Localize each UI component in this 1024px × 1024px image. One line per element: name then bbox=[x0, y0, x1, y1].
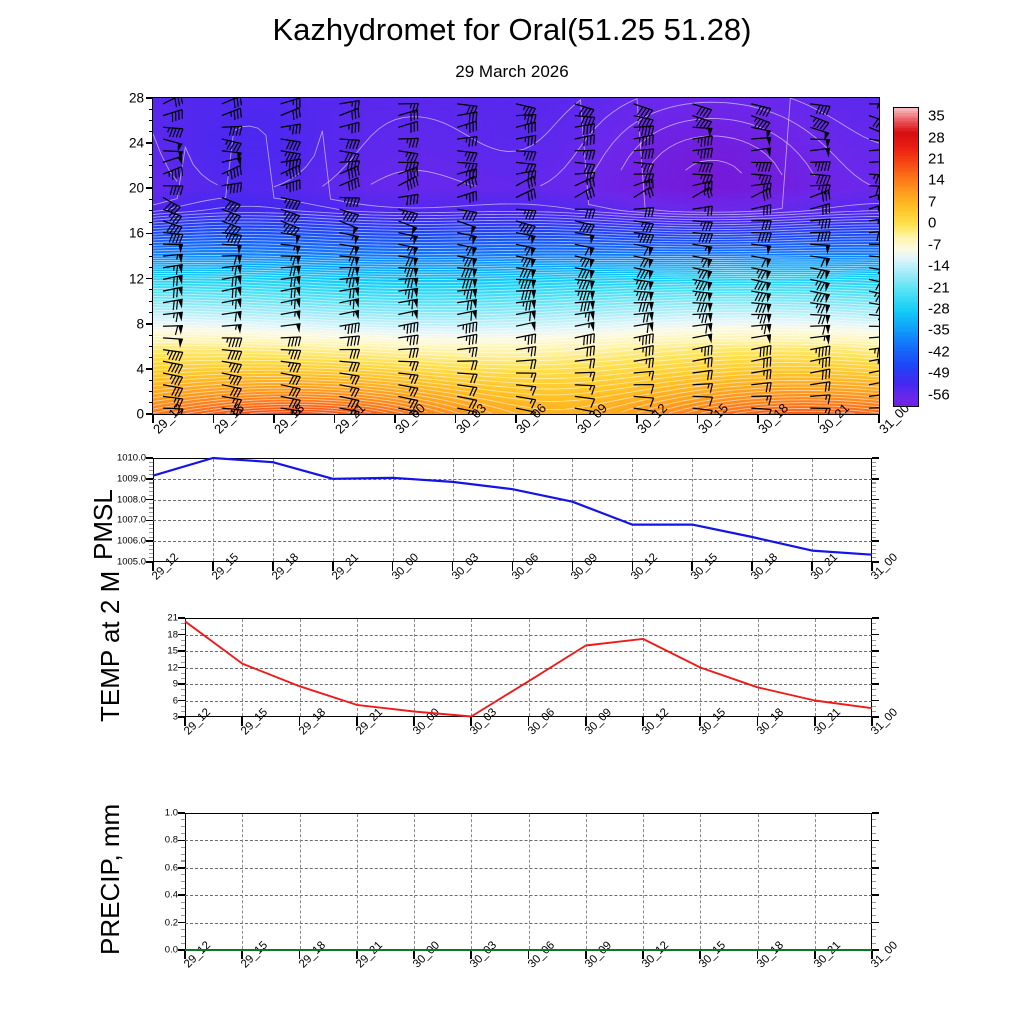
pmsl-ytick-minor bbox=[149, 549, 153, 550]
temp2m-ytick-minor bbox=[181, 629, 185, 630]
pmsl-gridline-v bbox=[752, 459, 753, 561]
pmsl-ytick-minor-right bbox=[872, 487, 876, 488]
pmsl-ytick-mark bbox=[146, 499, 153, 501]
cross-section-ytick-minor bbox=[149, 199, 153, 200]
pmsl-ytick-minor-right bbox=[872, 470, 876, 471]
precip-ytick-minor bbox=[181, 902, 185, 903]
forecast-meteogram-page: Kazhydromet for Oral(51.25 51.28) 29 Mar… bbox=[0, 0, 1024, 1024]
temp2m-ytick-minor-right bbox=[872, 673, 876, 674]
precip-ytick-label: 0.2 bbox=[156, 917, 178, 928]
cross-section-ytick-label: 28 bbox=[110, 91, 144, 106]
precip-ytick-mark bbox=[178, 894, 185, 896]
pmsl-ytick-minor-right bbox=[872, 532, 876, 533]
precip-ytick-mark bbox=[178, 840, 185, 842]
cross-section-frame bbox=[152, 97, 880, 415]
temp2m-gridline-v bbox=[529, 619, 530, 716]
pmsl-ytick-minor-right bbox=[872, 545, 876, 546]
temp2m-ytick-mark-right bbox=[872, 700, 879, 702]
pmsl-ytick-label: 1009.0 bbox=[106, 473, 146, 484]
cross-section-ytick-minor bbox=[149, 402, 153, 403]
precip-ytick-minor bbox=[181, 854, 185, 855]
pmsl-ytick-minor-right bbox=[872, 516, 876, 517]
precip-ytick-minor-right bbox=[872, 854, 876, 855]
precip-ytick-minor-right bbox=[872, 888, 876, 889]
pmsl-gridline-v bbox=[453, 459, 454, 561]
precip-ytick-label: 0.4 bbox=[156, 890, 178, 901]
pmsl-ytick-mark-right bbox=[872, 561, 879, 563]
precip-gridline-v bbox=[758, 814, 759, 949]
colorbar-tick-label: -42 bbox=[928, 343, 950, 360]
temp2m-gridline-v bbox=[586, 619, 587, 716]
precip-gridline-v bbox=[700, 814, 701, 949]
temp2m-gridline-v bbox=[815, 619, 816, 716]
pmsl-ytick-label: 1005.0 bbox=[106, 557, 146, 568]
precip-axis-label: PRECIP, mm bbox=[95, 804, 126, 955]
precip-ytick-minor-right bbox=[872, 908, 876, 909]
precip-ytick-minor-right bbox=[872, 929, 876, 930]
pmsl-ytick-minor-right bbox=[872, 495, 876, 496]
cross-section-ytick-mark bbox=[146, 368, 153, 370]
pmsl-ytick-minor bbox=[149, 512, 153, 513]
temp2m-gridline-v bbox=[300, 619, 301, 716]
temp2m-ytick-mark-right bbox=[872, 617, 879, 619]
temp2m-gridline-v bbox=[242, 619, 243, 716]
pmsl-ytick-minor-right bbox=[872, 462, 876, 463]
colorbar-tick-label: -56 bbox=[928, 386, 950, 403]
temp2m-ytick-mark bbox=[178, 683, 185, 685]
precip-ytick-minor bbox=[181, 936, 185, 937]
pmsl-ytick-minor bbox=[149, 466, 153, 467]
pmsl-ytick-label: 1007.0 bbox=[106, 515, 146, 526]
pmsl-ytick-minor bbox=[149, 487, 153, 488]
temp2m-ytick-label: 18 bbox=[160, 629, 178, 640]
temp2m-ytick-label: 9 bbox=[160, 679, 178, 690]
temp2m-ytick-minor bbox=[181, 678, 185, 679]
precip-ytick-minor-right bbox=[872, 902, 876, 903]
temp2m-ytick-minor bbox=[181, 656, 185, 657]
precip-gridline-v bbox=[471, 814, 472, 949]
pmsl-ytick-minor bbox=[149, 528, 153, 529]
colorbar-tick-label: -21 bbox=[928, 279, 950, 296]
precip-gridline-v bbox=[529, 814, 530, 949]
temp2m-ytick-minor-right bbox=[872, 711, 876, 712]
cross-section-ytick-minor bbox=[149, 391, 153, 392]
pmsl-ytick-minor bbox=[149, 553, 153, 554]
temp2m-ytick-mark-right bbox=[872, 650, 879, 652]
precip-ytick-minor bbox=[181, 929, 185, 930]
pmsl-ytick-mark-right bbox=[872, 540, 879, 542]
cross-section-ytick-label: 12 bbox=[110, 271, 144, 286]
pmsl-ytick-minor bbox=[149, 516, 153, 517]
precip-ytick-label: 1.0 bbox=[156, 808, 178, 819]
precip-gridline-v bbox=[815, 814, 816, 949]
page-subtitle: 29 March 2026 bbox=[0, 62, 1024, 82]
temp2m-ytick-mark bbox=[178, 667, 185, 669]
precip-ytick-minor bbox=[181, 881, 185, 882]
temp2m-ytick-minor-right bbox=[872, 640, 876, 641]
temp2m-ytick-minor bbox=[181, 706, 185, 707]
cross-section-ytick-mark bbox=[146, 187, 153, 189]
temp2m-ytick-label: 12 bbox=[160, 662, 178, 673]
pmsl-ytick-minor bbox=[149, 545, 153, 546]
precip-ytick-minor bbox=[181, 888, 185, 889]
precip-ytick-mark-right bbox=[872, 922, 879, 924]
pmsl-ytick-minor bbox=[149, 524, 153, 525]
cross-section-ytick-minor bbox=[149, 222, 153, 223]
colorbar-tick-label: -7 bbox=[928, 236, 941, 253]
pmsl-ytick-minor-right bbox=[872, 512, 876, 513]
temp2m-ytick-label: 3 bbox=[160, 712, 178, 723]
temp2m-ytick-label: 15 bbox=[160, 646, 178, 657]
pmsl-ytick-minor bbox=[149, 532, 153, 533]
cross-section-ytick-minor bbox=[149, 335, 153, 336]
pmsl-ytick-minor bbox=[149, 503, 153, 504]
precip-ytick-minor bbox=[181, 943, 185, 944]
colorbar-tick-label: -14 bbox=[928, 258, 950, 275]
precip-ytick-minor bbox=[181, 826, 185, 827]
precip-ytick-mark bbox=[178, 922, 185, 924]
colorbar-tick-label: 28 bbox=[928, 129, 945, 146]
cross-section-ytick-label: 16 bbox=[110, 226, 144, 241]
temp2m-ytick-minor bbox=[181, 645, 185, 646]
temp2m-ytick-mark bbox=[178, 650, 185, 652]
temp2m-ytick-mark-right bbox=[872, 716, 879, 718]
temp2m-gridline-v bbox=[414, 619, 415, 716]
colorbar-tick-label: 14 bbox=[928, 172, 945, 189]
temp2m-ytick-minor bbox=[181, 623, 185, 624]
cross-section-ytick-minor bbox=[149, 210, 153, 211]
precip-gridline-v bbox=[643, 814, 644, 949]
pmsl-gridline-v bbox=[513, 459, 514, 561]
pmsl-ytick-mark bbox=[146, 520, 153, 522]
pmsl-gridline-v bbox=[692, 459, 693, 561]
temp2m-ytick-mark bbox=[178, 700, 185, 702]
temp2m-ytick-minor-right bbox=[872, 706, 876, 707]
pmsl-gridline-v bbox=[273, 459, 274, 561]
pmsl-gridline-v bbox=[213, 459, 214, 561]
temp2m-ytick-minor-right bbox=[872, 662, 876, 663]
cross-section-ytick-minor bbox=[149, 301, 153, 302]
temp2m-ytick-minor bbox=[181, 689, 185, 690]
precip-ytick-minor-right bbox=[872, 833, 876, 834]
cross-section-ytick-mark bbox=[146, 278, 153, 280]
pmsl-ytick-minor bbox=[149, 482, 153, 483]
pmsl-ytick-mark bbox=[146, 478, 153, 480]
precip-ytick-minor bbox=[181, 860, 185, 861]
precip-ytick-mark bbox=[178, 812, 185, 814]
temp2m-ytick-minor-right bbox=[872, 623, 876, 624]
temp2m-ytick-minor bbox=[181, 640, 185, 641]
temp2m-ytick-mark bbox=[178, 617, 185, 619]
cross-section-ytick-minor bbox=[149, 165, 153, 166]
pmsl-ytick-mark bbox=[146, 457, 153, 459]
temp2m-ytick-mark-right bbox=[872, 634, 879, 636]
cross-section-ytick-label: 8 bbox=[110, 316, 144, 331]
temp2m-ytick-minor bbox=[181, 695, 185, 696]
temp2m-gridline-v bbox=[700, 619, 701, 716]
pmsl-ytick-minor bbox=[149, 462, 153, 463]
colorbar-tick-label: 21 bbox=[928, 151, 945, 168]
cross-section-ytick-minor bbox=[149, 109, 153, 110]
pmsl-gridline-v bbox=[393, 459, 394, 561]
pmsl-ytick-minor-right bbox=[872, 524, 876, 525]
temp2m-ytick-mark-right bbox=[872, 667, 879, 669]
precip-ytick-minor bbox=[181, 819, 185, 820]
precip-ytick-minor bbox=[181, 874, 185, 875]
cross-section-ytick-minor bbox=[149, 357, 153, 358]
pmsl-ytick-minor bbox=[149, 537, 153, 538]
colorbar-tick-label: 35 bbox=[928, 108, 945, 125]
precip-ytick-minor-right bbox=[872, 881, 876, 882]
pmsl-xtick-label: 31_00 bbox=[869, 551, 900, 582]
cross-section-ytick-minor bbox=[149, 380, 153, 381]
temp2m-ytick-minor-right bbox=[872, 689, 876, 690]
cross-section-ytick-mark bbox=[146, 323, 153, 325]
precip-gridline-v bbox=[586, 814, 587, 949]
cross-section-ytick-label: 0 bbox=[110, 407, 144, 422]
cross-section-ytick-mark bbox=[146, 97, 153, 99]
cross-section-ytick-minor bbox=[149, 267, 153, 268]
cross-section-ytick-minor bbox=[149, 312, 153, 313]
temp2m-ytick-minor bbox=[181, 673, 185, 674]
precip-gridline-v bbox=[300, 814, 301, 949]
precip-ytick-mark-right bbox=[872, 894, 879, 896]
precip-ytick-mark-right bbox=[872, 840, 879, 842]
cross-section-ytick-label: 24 bbox=[110, 136, 144, 151]
pmsl-ytick-mark-right bbox=[872, 499, 879, 501]
precip-ytick-minor-right bbox=[872, 860, 876, 861]
pmsl-ytick-minor bbox=[149, 470, 153, 471]
pmsl-ytick-minor-right bbox=[872, 474, 876, 475]
colorbar-segment bbox=[894, 406, 918, 408]
temp2m-gridline-v bbox=[758, 619, 759, 716]
pmsl-ytick-mark-right bbox=[872, 520, 879, 522]
precip-ytick-minor bbox=[181, 915, 185, 916]
cross-section-ytick-minor bbox=[149, 177, 153, 178]
precip-ytick-label: 0.6 bbox=[156, 862, 178, 873]
pmsl-gridline-v bbox=[333, 459, 334, 561]
cross-section-ytick-mark bbox=[146, 233, 153, 235]
precip-ytick-label: 0.8 bbox=[156, 835, 178, 846]
pmsl-ytick-mark bbox=[146, 540, 153, 542]
cross-section-ytick-minor bbox=[149, 154, 153, 155]
colorbar-tick-label: 7 bbox=[928, 193, 936, 210]
cross-section-ytick-minor bbox=[149, 131, 153, 132]
precip-ytick-minor-right bbox=[872, 826, 876, 827]
pmsl-ytick-minor-right bbox=[872, 537, 876, 538]
colorbar-tick-label: -28 bbox=[928, 301, 950, 318]
temp2m-ytick-minor-right bbox=[872, 695, 876, 696]
precip-gridline-v bbox=[242, 814, 243, 949]
pmsl-ytick-minor-right bbox=[872, 482, 876, 483]
temp2m-ytick-minor-right bbox=[872, 645, 876, 646]
cross-section-ytick-minor bbox=[149, 120, 153, 121]
precip-ytick-minor-right bbox=[872, 943, 876, 944]
pmsl-ytick-label: 1010.0 bbox=[106, 453, 146, 464]
temp2m-gridline-v bbox=[471, 619, 472, 716]
cross-section-ytick-minor bbox=[149, 256, 153, 257]
precip-gridline-v bbox=[357, 814, 358, 949]
pmsl-ytick-minor bbox=[149, 495, 153, 496]
precip-ytick-mark-right bbox=[872, 949, 879, 951]
temp2m-ytick-mark-right bbox=[872, 683, 879, 685]
temp2m-ytick-label: 6 bbox=[160, 695, 178, 706]
colorbar-tick-label: 0 bbox=[928, 215, 936, 232]
cross-section-ytick-minor bbox=[149, 346, 153, 347]
pmsl-ytick-label: 1008.0 bbox=[106, 494, 146, 505]
pmsl-ytick-minor-right bbox=[872, 557, 876, 558]
pmsl-ytick-minor-right bbox=[872, 553, 876, 554]
pmsl-ytick-minor bbox=[149, 491, 153, 492]
pmsl-ytick-minor bbox=[149, 507, 153, 508]
pmsl-gridline-v bbox=[812, 459, 813, 561]
cross-section-ytick-minor bbox=[149, 289, 153, 290]
colorbar-tick-label: -49 bbox=[928, 365, 950, 382]
pmsl-ytick-minor-right bbox=[872, 466, 876, 467]
pmsl-ytick-mark-right bbox=[872, 478, 879, 480]
page-title: Kazhydromet for Oral(51.25 51.28) bbox=[0, 12, 1024, 48]
precip-ytick-mark bbox=[178, 867, 185, 869]
temp2m-gridline-v bbox=[357, 619, 358, 716]
precip-ytick-minor bbox=[181, 833, 185, 834]
pmsl-ytick-minor-right bbox=[872, 507, 876, 508]
precip-ytick-minor-right bbox=[872, 874, 876, 875]
temp2m-ytick-minor-right bbox=[872, 629, 876, 630]
temp2m-ytick-minor bbox=[181, 662, 185, 663]
pmsl-ytick-label: 1006.0 bbox=[106, 536, 146, 547]
cross-section-ytick-label: 4 bbox=[110, 361, 144, 376]
temp2m-axis-label: TEMP at 2 M bbox=[95, 571, 126, 722]
temp2m-ytick-minor-right bbox=[872, 678, 876, 679]
precip-ytick-mark-right bbox=[872, 867, 879, 869]
precip-ytick-label: 0.0 bbox=[156, 945, 178, 956]
precip-gridline-v bbox=[414, 814, 415, 949]
pmsl-ytick-minor bbox=[149, 557, 153, 558]
pmsl-ytick-minor-right bbox=[872, 491, 876, 492]
cross-section-ytick-minor bbox=[149, 244, 153, 245]
pmsl-ytick-minor-right bbox=[872, 528, 876, 529]
colorbar-tick-label: -35 bbox=[928, 322, 950, 339]
temperature-colorbar bbox=[893, 107, 919, 407]
precip-ytick-mark-right bbox=[872, 812, 879, 814]
precip-ytick-minor-right bbox=[872, 936, 876, 937]
precip-xtick-label: 31_00 bbox=[869, 939, 900, 970]
precip-ytick-minor bbox=[181, 847, 185, 848]
precip-ytick-minor-right bbox=[872, 915, 876, 916]
temp2m-gridline-v bbox=[643, 619, 644, 716]
temp2m-ytick-mark bbox=[178, 634, 185, 636]
pmsl-ytick-mark-right bbox=[872, 457, 879, 459]
pmsl-ytick-minor-right bbox=[872, 549, 876, 550]
precip-ytick-minor-right bbox=[872, 819, 876, 820]
temp2m-ytick-minor-right bbox=[872, 656, 876, 657]
precip-ytick-minor-right bbox=[872, 847, 876, 848]
temp2m-ytick-label: 21 bbox=[160, 613, 178, 624]
cross-section-ytick-label: 20 bbox=[110, 181, 144, 196]
temp2m-ytick-minor bbox=[181, 711, 185, 712]
pmsl-gridline-v bbox=[632, 459, 633, 561]
precip-ytick-minor bbox=[181, 908, 185, 909]
cross-section-ytick-mark bbox=[146, 142, 153, 144]
pmsl-ytick-minor bbox=[149, 474, 153, 475]
pmsl-ytick-minor-right bbox=[872, 503, 876, 504]
pmsl-gridline-v bbox=[572, 459, 573, 561]
